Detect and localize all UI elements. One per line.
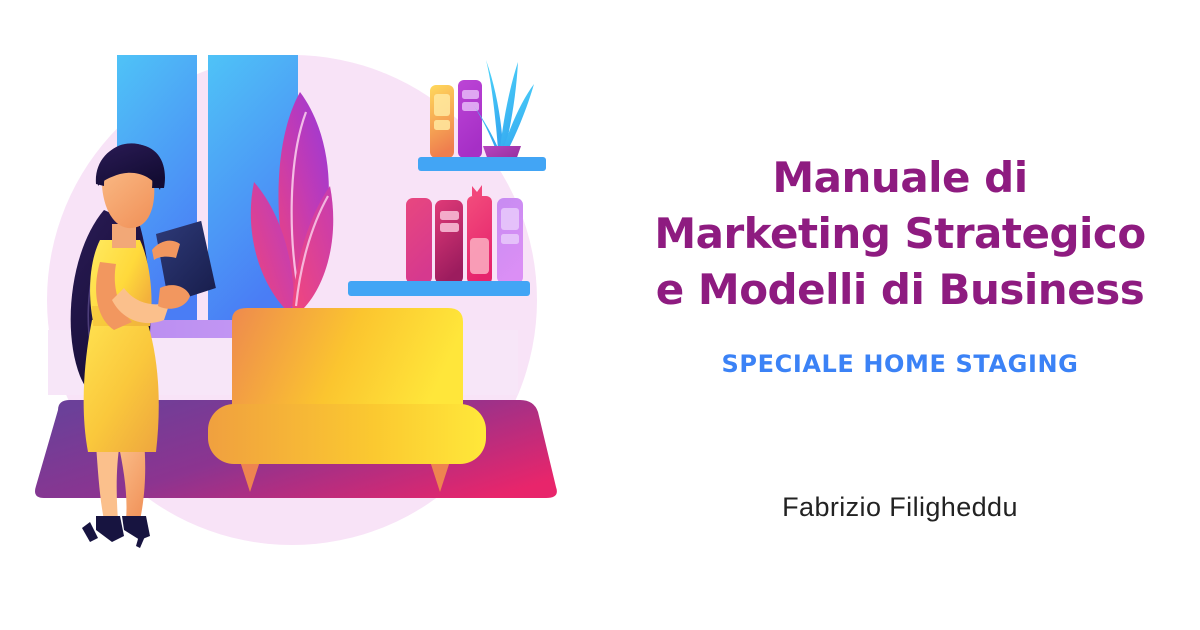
top-shelf-book-purple <box>458 80 482 158</box>
shoe-back <box>122 516 150 540</box>
bottom-shelf-book-bookmark <box>467 185 492 284</box>
shoe-front <box>96 516 124 542</box>
shoe-front-heel <box>82 522 98 542</box>
title-line-1: Manuale di <box>600 150 1200 206</box>
title-line-3: e Modelli di Business <box>600 262 1200 318</box>
text-block: Manuale di Marketing Strategico e Modell… <box>600 0 1200 630</box>
shelf-board-bottom <box>348 281 530 296</box>
page-title: Manuale di Marketing Strategico e Modell… <box>600 150 1200 318</box>
skirt <box>84 318 159 452</box>
leg-front <box>96 442 120 520</box>
illustration <box>0 0 600 630</box>
title-line-2: Marketing Strategico <box>600 206 1200 262</box>
bottom-shelf-book-pink <box>406 198 432 284</box>
cover-canvas: Manuale di Marketing Strategico e Modell… <box>0 0 1200 630</box>
bottom-shelf-book-magenta <box>435 200 463 284</box>
sofa-back <box>232 308 463 412</box>
author-name: Fabrizio Filigheddu <box>600 492 1200 523</box>
top-shelf-book-yellow <box>430 85 454 158</box>
sofa-seat <box>208 404 486 464</box>
shelf-board-top <box>418 157 546 171</box>
bottom-shelf-book-lilac <box>497 198 523 284</box>
page-subtitle: SPECIALE HOME STAGING <box>600 350 1200 378</box>
